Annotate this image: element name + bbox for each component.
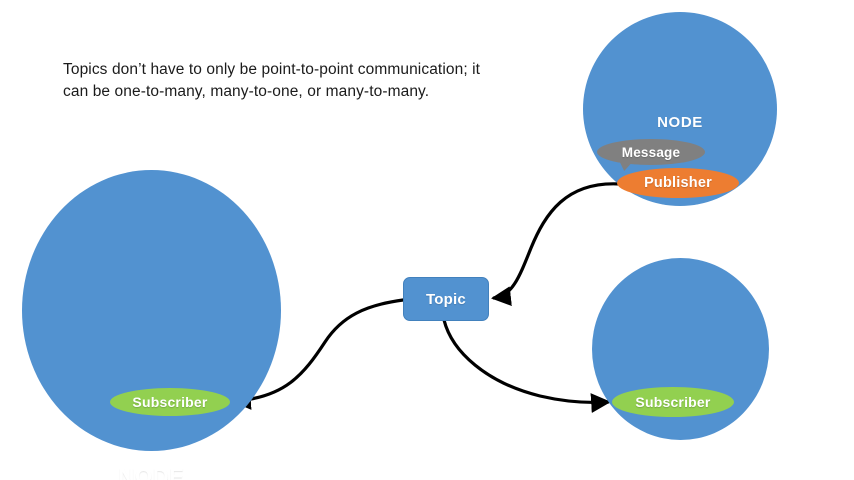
- subscriber-ellipse-left[interactable]: Subscriber: [110, 388, 230, 416]
- subscriber-ellipse-right[interactable]: Subscriber: [612, 387, 734, 417]
- message-bubble: Message: [597, 139, 705, 165]
- edge-topic-to-right-subscriber: [444, 320, 608, 402]
- diagram-canvas: Topics don’t have to only be point-to-po…: [0, 0, 854, 480]
- node-left-label: NODE: [22, 464, 281, 480]
- edge-publisher-to-topic: [494, 184, 620, 298]
- caption-text: Topics don’t have to only be point-to-po…: [63, 59, 483, 104]
- topic-box[interactable]: Topic: [403, 277, 489, 321]
- node-top-right-label: NODE: [583, 114, 777, 131]
- publisher-ellipse[interactable]: Publisher: [617, 168, 739, 198]
